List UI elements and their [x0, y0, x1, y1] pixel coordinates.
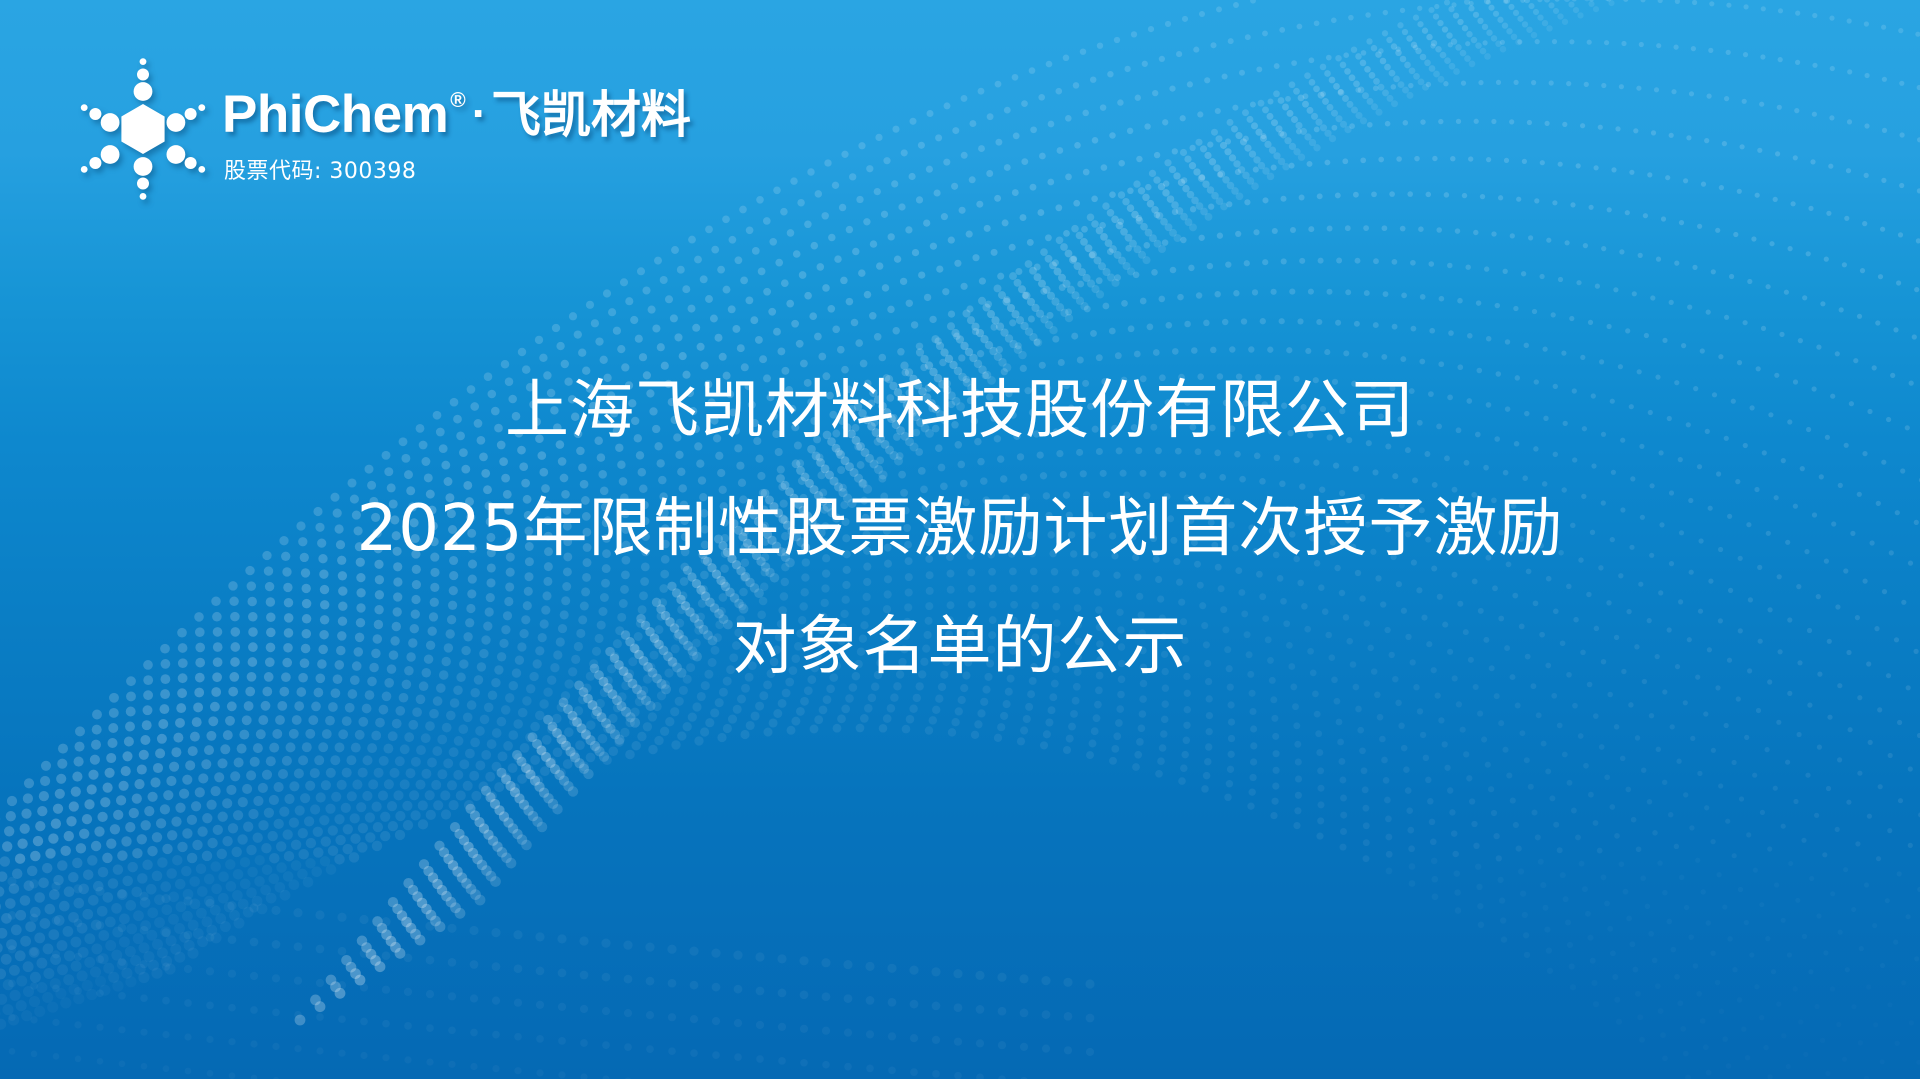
presentation-slide: PhiChem ® · 飞凯材料 股票代码: 300398 上海飞凯材料科技股份… [0, 0, 1920, 1079]
stock-code-label: 股票代码: 300398 [224, 153, 691, 185]
wordmark-separator: · [472, 90, 487, 136]
brand-wordmark: PhiChem ® · 飞凯材料 [222, 88, 691, 141]
brand-logo: PhiChem ® · 飞凯材料 股票代码: 300398 [72, 58, 691, 200]
slide-title: 上海飞凯材料科技股份有限公司 2025年限制性股票激励计划首次授予激励 对象名单… [0, 352, 1920, 706]
title-line-3: 对象名单的公示 [120, 588, 1800, 706]
registered-trademark-icon: ® [450, 90, 465, 111]
title-line-1: 上海飞凯材料科技股份有限公司 [120, 352, 1800, 470]
phichem-star-hexagon-icon [72, 58, 214, 200]
wordmark-latin: PhiChem [222, 88, 448, 141]
wordmark-chinese: 飞凯材料 [491, 90, 691, 140]
title-line-2: 2025年限制性股票激励计划首次授予激励 [120, 470, 1800, 588]
